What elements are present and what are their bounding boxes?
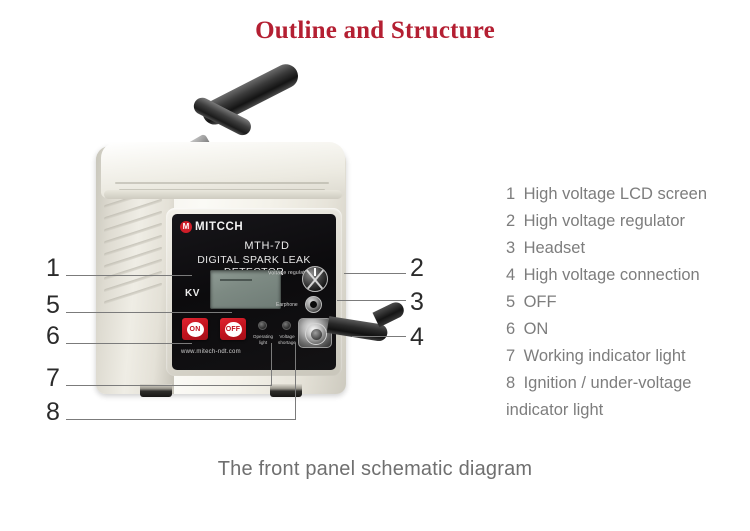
callout-number-7: 7 — [46, 366, 60, 391]
legend-item: 6 ON — [506, 316, 750, 343]
legend-item-label: Headset — [524, 239, 585, 257]
legend-item-label: ON — [524, 320, 549, 338]
callout-number-2: 2 — [410, 256, 424, 281]
legend-item: 3 Headset — [506, 235, 750, 262]
earphone-jack[interactable] — [305, 296, 322, 313]
device-illustration: M MITCCH MTH-7D DIGITAL SPARK LEAK DETEC… — [84, 104, 384, 404]
legend-item-number: 8 — [506, 370, 519, 397]
legend-item-label: Ignition / under-voltage — [524, 374, 692, 392]
leader-riser-7 — [271, 343, 272, 386]
leader-riser-8 — [295, 343, 296, 420]
high-voltage-connector-core — [311, 329, 322, 340]
leader-line-8 — [66, 419, 296, 420]
page-title: Outline and Structure — [0, 17, 750, 45]
callout-number-5: 5 — [46, 293, 60, 318]
device-case-top-edge — [104, 190, 342, 199]
legend-item-number: 4 — [506, 262, 519, 289]
callout-number-6: 6 — [46, 324, 60, 349]
earphone-jack-hole — [310, 301, 317, 308]
earphone-label: Earphone — [276, 302, 298, 308]
leader-line-6 — [66, 343, 192, 344]
manufacturer-website: www.mitech-ndt.com — [181, 349, 241, 355]
legend-item: 8 Ignition / under-voltage — [506, 370, 750, 397]
leader-line-5 — [66, 312, 232, 313]
working-indicator-lamp-label: Operating light — [250, 334, 276, 345]
legend-item: 5 OFF — [506, 289, 750, 316]
callout-number-8: 8 — [46, 400, 60, 425]
knob-pointer-icon — [314, 268, 316, 276]
voltage-shortage-lamp — [282, 321, 291, 330]
power-on-button-label: ON — [187, 322, 204, 337]
brand-logo: M MITCCH — [180, 221, 243, 233]
legend-item-label: High voltage regulator — [524, 212, 685, 230]
voltage-regulator-knob[interactable] — [302, 266, 328, 292]
power-off-button[interactable]: OFF — [220, 318, 246, 340]
legend-list: 1 High voltage LCD screen 2 High voltage… — [506, 181, 750, 424]
legend-item-number: 3 — [506, 235, 519, 262]
kv-unit-label: KV — [185, 288, 200, 299]
callout-number-1: 1 — [46, 256, 60, 281]
leader-line-4 — [352, 336, 406, 337]
front-control-panel: M MITCCH MTH-7D DIGITAL SPARK LEAK DETEC… — [172, 214, 336, 370]
leader-line-1 — [66, 275, 192, 276]
legend-item-label: High voltage connection — [524, 266, 700, 284]
device-foot — [270, 384, 302, 397]
power-off-button-label: OFF — [225, 322, 242, 337]
legend-item-number: 6 — [506, 316, 519, 343]
legend-item-number: 1 — [506, 181, 519, 208]
legend-item-label: OFF — [524, 293, 557, 311]
legend-item-label: High voltage LCD screen — [524, 185, 707, 203]
legend-item-number: 5 — [506, 289, 519, 316]
brand-logo-text: MITCCH — [195, 221, 243, 233]
brand-logo-mark: M — [180, 221, 192, 233]
high-voltage-cable-bend — [372, 300, 406, 328]
callout-number-3: 3 — [410, 290, 424, 315]
case-groove — [115, 182, 329, 184]
voltage-shortage-lamp-label: Voltage shortage — [274, 334, 300, 345]
leader-line-3 — [337, 300, 406, 301]
legend-item-label: Working indicator light — [524, 347, 686, 365]
legend-item-continuation: indicator light — [506, 397, 750, 424]
power-on-button[interactable]: ON — [182, 318, 208, 340]
device-model-number: MTH-7D — [172, 240, 336, 252]
leader-line-2 — [344, 273, 406, 274]
legend-item-number: 2 — [506, 208, 519, 235]
legend-item: 4 High voltage connection — [506, 262, 750, 289]
lcd-readout-line — [220, 279, 252, 281]
legend-item: 1 High voltage LCD screen — [506, 181, 750, 208]
callout-number-4: 4 — [410, 325, 424, 350]
legend-item: 7 Working indicator light — [506, 343, 750, 370]
leader-line-7 — [66, 385, 272, 386]
legend-item-number: 7 — [506, 343, 519, 370]
high-voltage-connector-ring — [305, 323, 327, 345]
legend-item: 2 High voltage regulator — [506, 208, 750, 235]
figure-caption: The front panel schematic diagram — [0, 458, 750, 481]
working-indicator-lamp — [258, 321, 267, 330]
